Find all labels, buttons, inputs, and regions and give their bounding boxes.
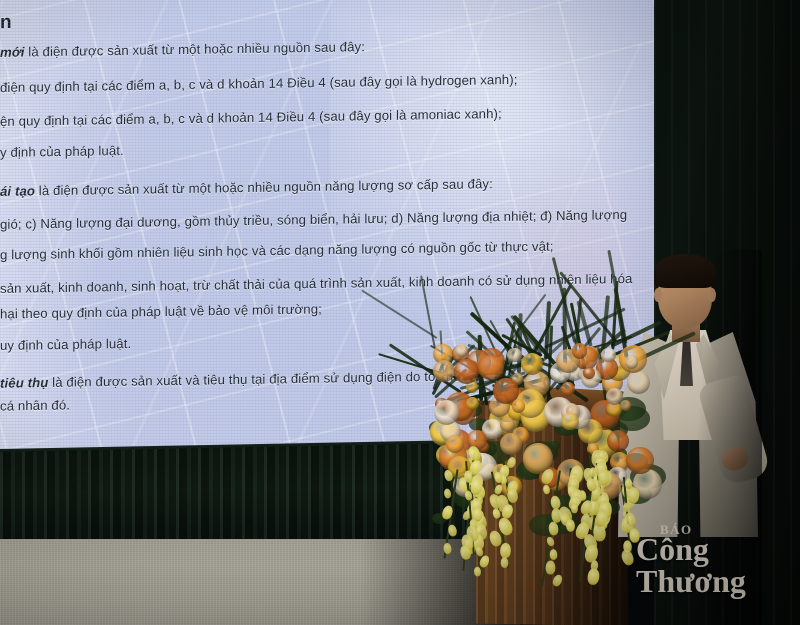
flower-arrangement <box>398 324 666 574</box>
slide-line-9: hại theo quy định của pháp luật về bảo v… <box>0 301 322 321</box>
slide-line-7-text: g lượng sinh khối gồm nhiên liệu sinh họ… <box>0 239 554 263</box>
slide-line-8: sản xuất, kinh doanh, sinh hoạt, trừ chấ… <box>0 271 632 296</box>
slide-line-6: gió; c) Năng lượng đại dương, gồm thủy t… <box>0 207 627 232</box>
slide-line-5-lead: ái tạo <box>0 183 35 199</box>
slide-line-3-text: ện quy định tại các điểm a, b, c và d kh… <box>0 106 502 129</box>
slide-line-1-text: là điện được sản xuất từ một hoặc nhiều … <box>25 39 365 59</box>
slide-line-12-text: cá nhân đó. <box>0 397 70 413</box>
slide-line-1-lead: mới <box>0 44 25 59</box>
slide-line-4-text: y định của pháp luật. <box>0 143 124 160</box>
slide-line-2: điện quy định tại các điểm a, b, c và d … <box>0 72 517 95</box>
hanging-orchids <box>398 324 666 574</box>
slide-line-11-lead: tiêu thụ <box>0 375 48 391</box>
slide-line-10-text: uy định của pháp luật. <box>0 336 131 353</box>
slide-line-5: ái tạo là điện được sản xuất từ một hoặc… <box>0 176 493 199</box>
slide-line-3: ện quy định tại các điểm a, b, c và d kh… <box>0 106 502 129</box>
slide-line-7: g lượng sinh khối gồm nhiên liệu sinh họ… <box>0 239 554 263</box>
slide-line-4: y định của pháp luật. <box>0 143 124 160</box>
slide-line-1: mới là điện được sản xuất từ một hoặc nh… <box>0 39 365 60</box>
slide-line-5-text: là điện được sản xuất từ một hoặc nhiều … <box>35 176 493 198</box>
slide-line-12: cá nhân đó. <box>0 397 70 413</box>
slide-line-8-text: sản xuất, kinh doanh, sinh hoạt, trừ chấ… <box>0 271 632 296</box>
slide-line-10: uy định của pháp luật. <box>0 336 131 353</box>
conference-photo-scene: n mới là điện được sản xuất từ một hoặc … <box>0 0 800 625</box>
slide-line-6-text: gió; c) Năng lượng đại dương, gồm thủy t… <box>0 207 627 232</box>
slide-line-9-text: hại theo quy định của pháp luật về bảo v… <box>0 301 322 321</box>
slide-heading-fragment: n <box>0 12 12 34</box>
slide-line-2-text: điện quy định tại các điểm a, b, c và d … <box>0 72 517 95</box>
